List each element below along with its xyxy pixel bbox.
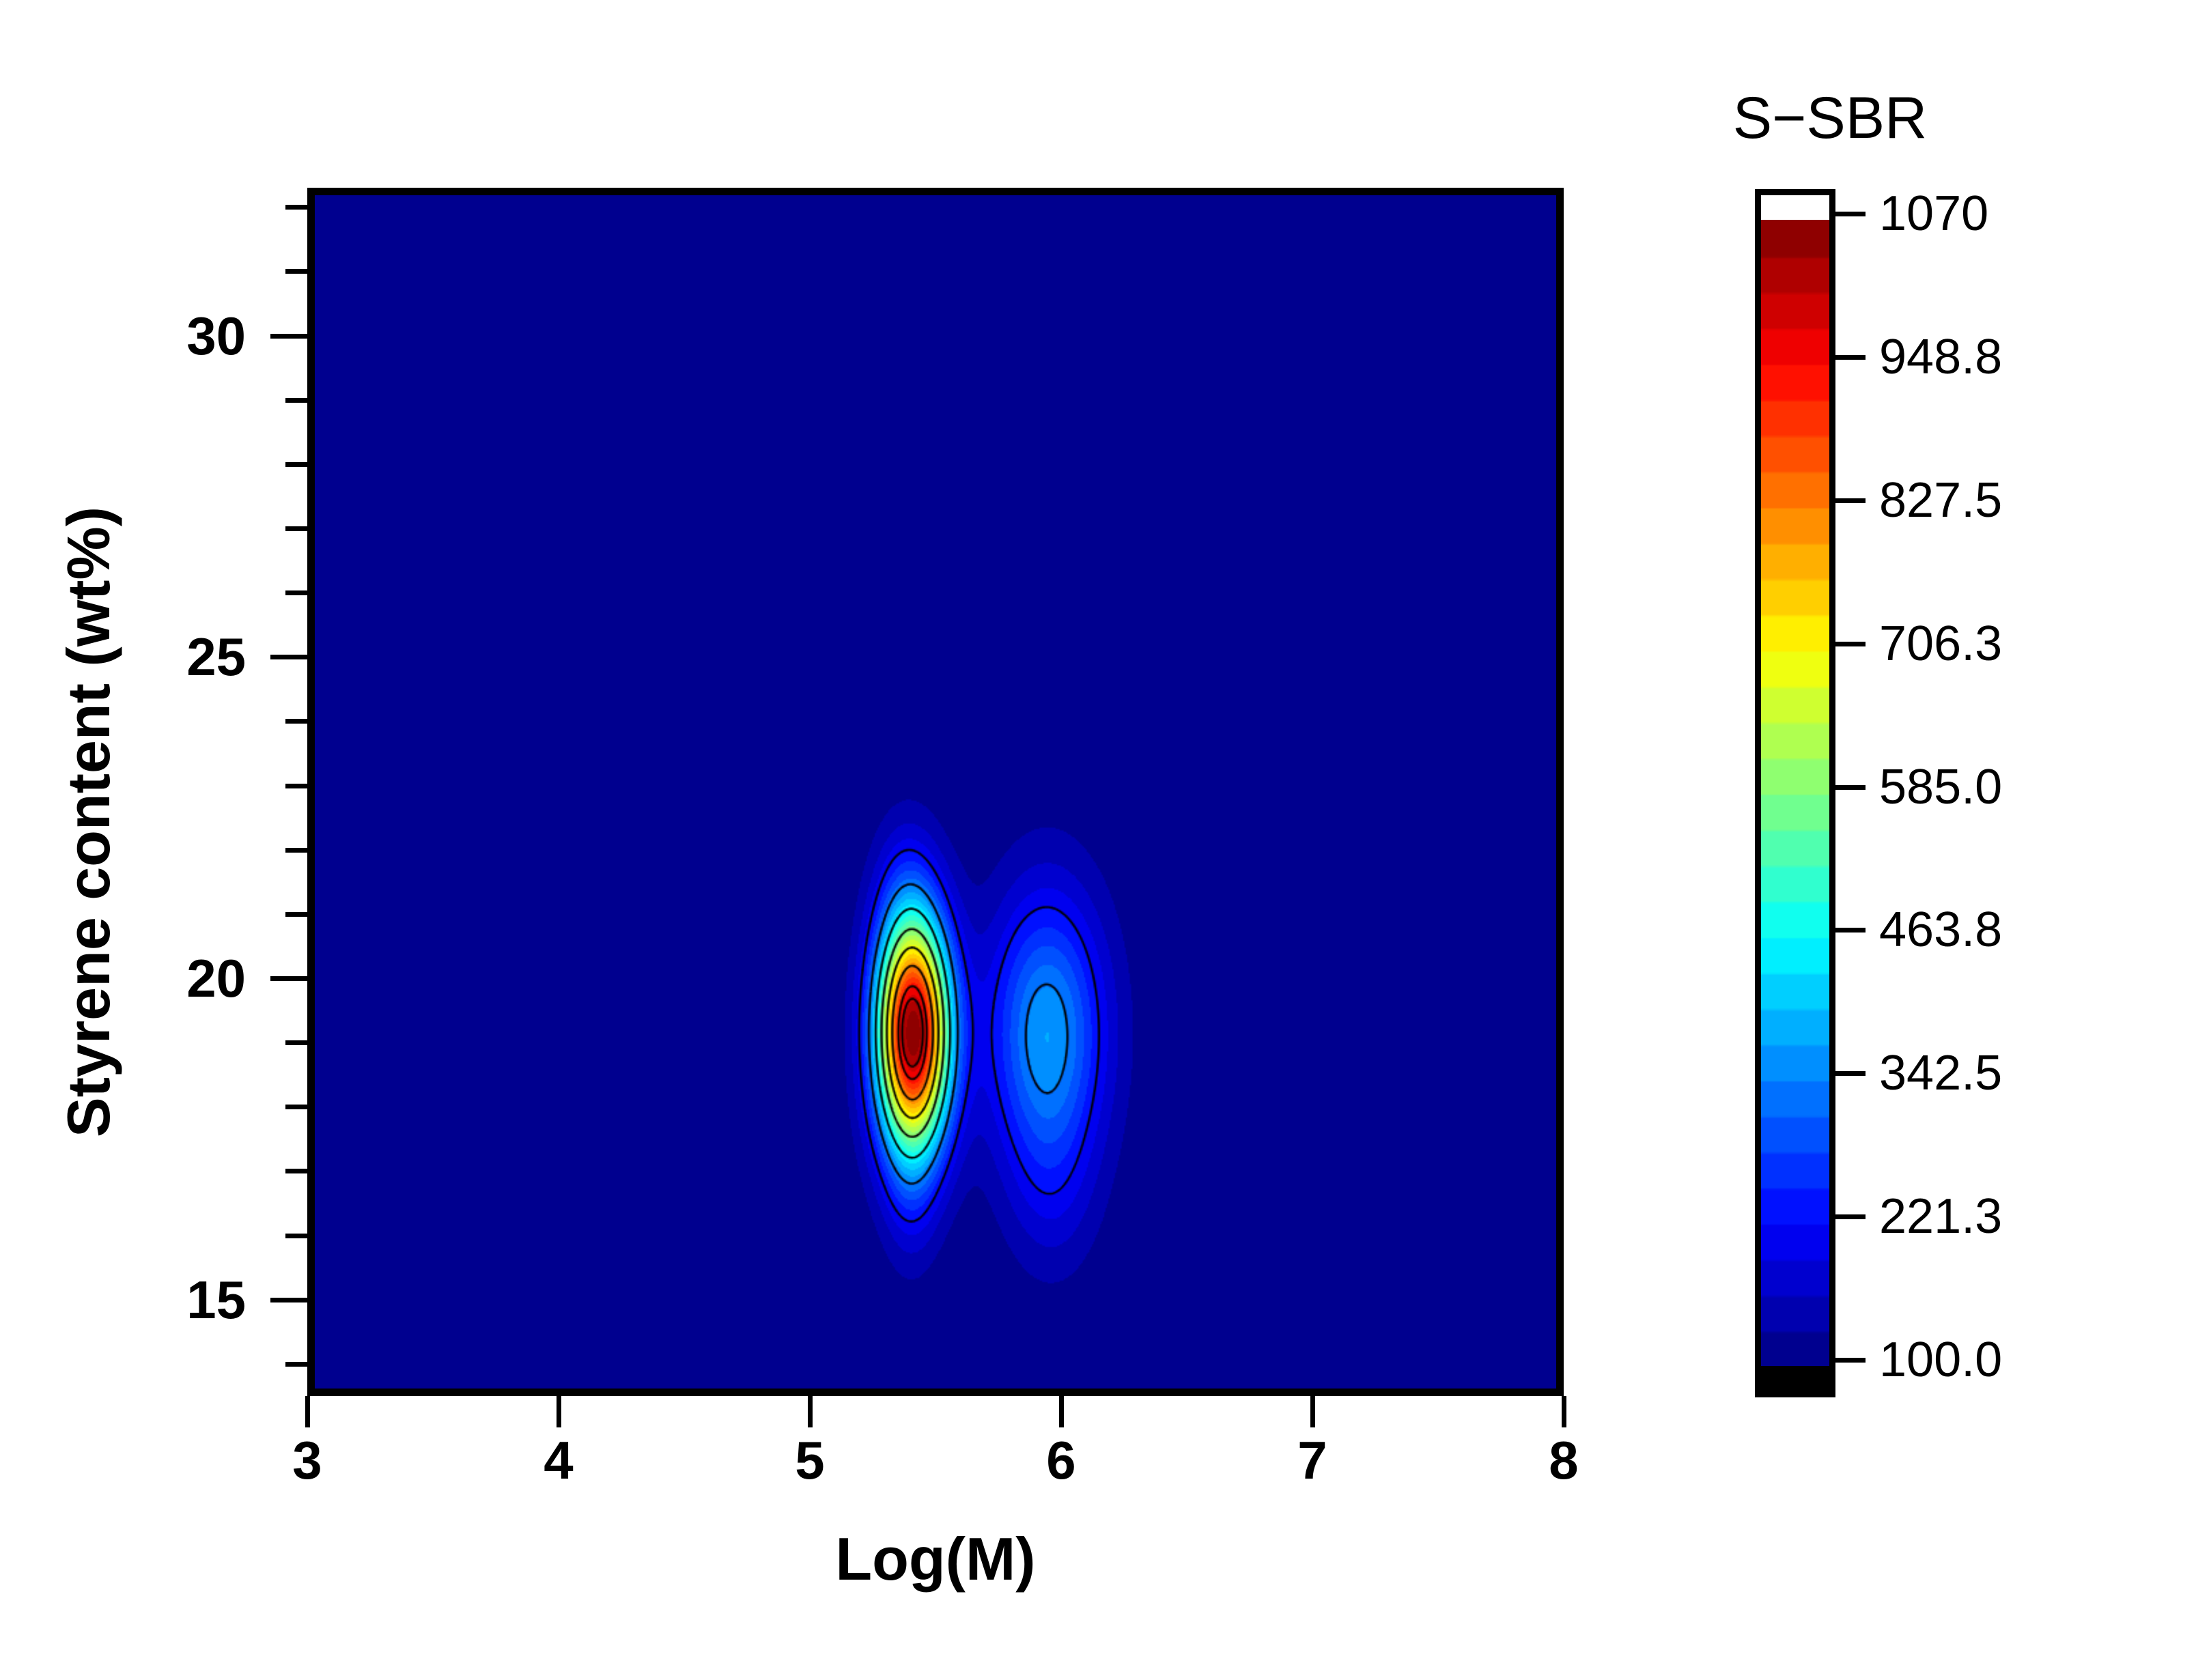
y-tick-minor (285, 462, 307, 467)
x-tick (1562, 1396, 1566, 1427)
colorbar-tick-label: 706.3 (1879, 619, 2002, 668)
y-tick-minor (285, 1169, 307, 1173)
x-tick (305, 1396, 310, 1427)
y-tick-minor (285, 1362, 307, 1367)
y-tick-minor (285, 784, 307, 788)
y-tick-minor (285, 1105, 307, 1109)
x-tick (557, 1396, 561, 1427)
colorbar-tick (1835, 1358, 1866, 1363)
contour-field-canvas (315, 195, 1556, 1389)
y-axis-title: Styrene content (wt%) (59, 218, 119, 1426)
y-tick-major (270, 334, 307, 339)
x-tick-label: 4 (490, 1434, 627, 1487)
colorbar-tick-label: 827.5 (1879, 476, 2002, 525)
colorbar-gradient (1761, 220, 1829, 1366)
colorbar-under-block (1761, 1366, 1829, 1391)
y-tick-minor (285, 590, 307, 595)
colorbar-tick-label: 1070 (1879, 189, 1988, 238)
colorbar-tick (1835, 1214, 1866, 1219)
x-tick (808, 1396, 813, 1427)
y-tick-minor (285, 205, 307, 210)
colorbar-tick-label: 948.8 (1879, 332, 2002, 382)
x-tick-label: 3 (239, 1434, 376, 1487)
x-tick-label: 5 (742, 1434, 878, 1487)
y-tick-minor (285, 1040, 307, 1045)
x-tick-label: 7 (1244, 1434, 1381, 1487)
colorbar-tick (1835, 1071, 1866, 1076)
y-tick-minor (285, 398, 307, 403)
colorbar-tick (1835, 212, 1866, 216)
colorbar-tick (1835, 642, 1866, 646)
y-tick-minor (285, 912, 307, 917)
x-tick (1059, 1396, 1064, 1427)
colorbar-tick (1835, 928, 1866, 932)
y-tick-minor (285, 719, 307, 724)
colorbar-tick-label: 100.0 (1879, 1335, 2002, 1384)
y-tick-major (270, 1298, 307, 1302)
x-tick-label: 8 (1495, 1434, 1632, 1487)
colorbar-tick (1835, 355, 1866, 360)
x-tick (1310, 1396, 1315, 1427)
plot-area (307, 188, 1564, 1396)
colorbar-tick-label: 221.3 (1879, 1192, 2002, 1241)
y-tick-minor (285, 1234, 307, 1238)
colorbar-tick (1835, 785, 1866, 790)
x-axis-title: Log(M) (307, 1529, 1564, 1589)
colorbar-tick-label: 342.5 (1879, 1049, 2002, 1098)
colorbar (1755, 189, 1835, 1397)
y-tick-minor (285, 269, 307, 274)
colorbar-title: S−SBR (1639, 89, 2021, 147)
x-tick-label: 6 (993, 1434, 1129, 1487)
colorbar-tick-label: 585.0 (1879, 763, 2002, 812)
contour-figure: 34567815202530 Log(M) Styrene content (w… (0, 0, 2196, 1680)
colorbar-tick (1835, 498, 1866, 503)
y-tick-major (270, 976, 307, 981)
y-tick-minor (285, 848, 307, 853)
colorbar-over-block (1761, 195, 1829, 220)
y-tick-major (270, 655, 307, 659)
y-tick-minor (285, 526, 307, 531)
colorbar-tick-label: 463.8 (1879, 905, 2002, 954)
